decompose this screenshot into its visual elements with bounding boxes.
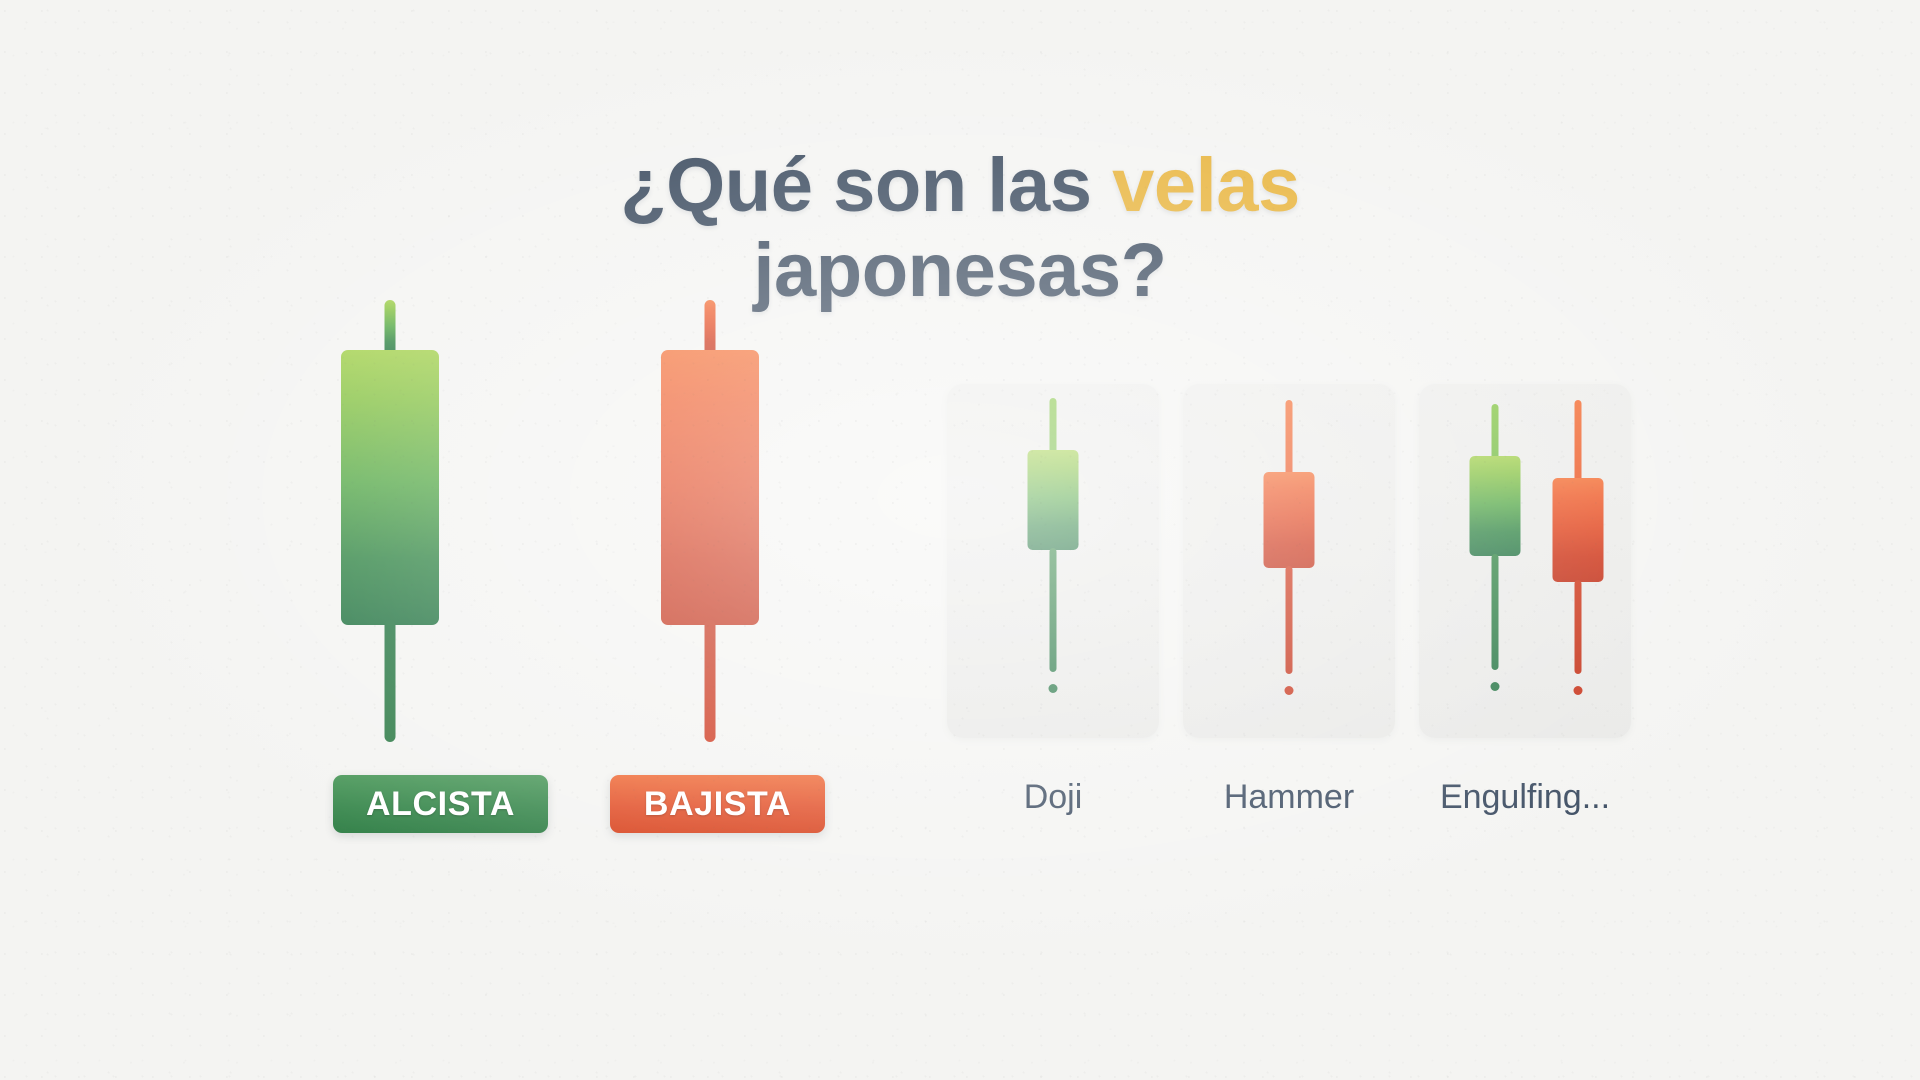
engulfing-bullish-dot [1491,682,1500,691]
bearish-candle-body [661,350,759,625]
title-line1-plain: ¿Qué son las [620,143,1112,228]
title-accent-word: velas [1112,143,1300,228]
engulfing-bearish-dot [1574,686,1583,695]
doji-candle-wick-lower [1050,548,1057,672]
hammer-candle-wick-lower [1286,566,1293,674]
badge-bajista[interactable]: BAJISTA [610,775,825,833]
bullish-candle-body [341,350,439,625]
badge-bajista-label: BAJISTA [644,785,791,824]
hammer-candle-dot [1285,686,1294,695]
doji-candle-body [1028,450,1079,550]
doji-card-label: Doji [947,778,1159,817]
engulfing-bullish-wick-lower [1492,554,1499,670]
badge-alcista-label: ALCISTA [366,785,515,824]
doji-candle-wick-upper [1050,398,1057,454]
engulfing-bearish-wick-lower [1575,580,1582,674]
hammer-candle-wick-upper [1286,400,1293,476]
hammer-candle-body [1264,472,1315,568]
engulfing-bullish-body [1470,456,1521,556]
engulfing-card-label: Engulfing... [1409,778,1641,817]
engulfing-bearish-wick-upper [1575,400,1582,482]
title-line2: japonesas? [0,228,1920,313]
bearish-candle-wick-lower [705,620,716,742]
engulfing-bullish-wick-upper [1492,404,1499,460]
hammer-card-label: Hammer [1183,778,1395,817]
page-title: ¿Qué son las velas japonesas? [0,143,1920,313]
engulfing-bearish-body [1553,478,1604,582]
badge-alcista[interactable]: ALCISTA [333,775,548,833]
bullish-candle-wick-lower [385,620,396,742]
doji-candle-dot [1049,684,1058,693]
